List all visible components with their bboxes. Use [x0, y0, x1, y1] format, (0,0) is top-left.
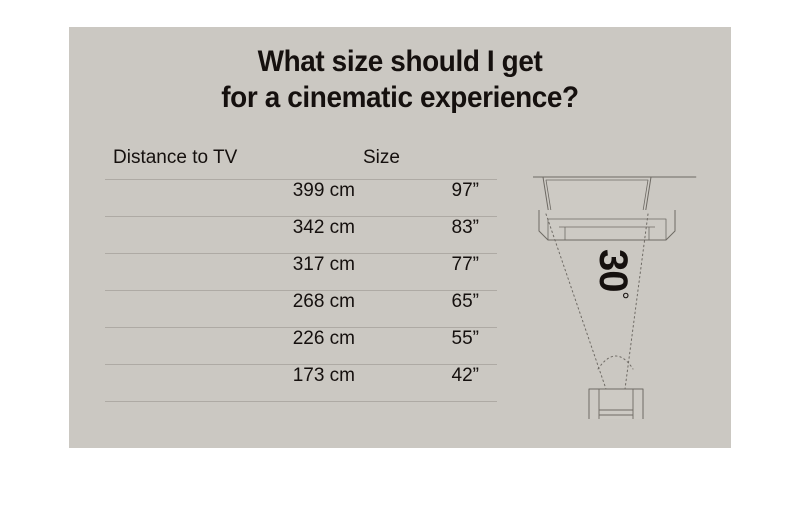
page-title: What size should I get for a cinematic e…: [92, 44, 708, 116]
cell-size: 83”: [355, 217, 497, 239]
column-header-size: Size: [363, 147, 497, 169]
cell-size: 55”: [355, 328, 497, 350]
infographic-card: What size should I get for a cinematic e…: [69, 27, 731, 448]
size-table: Distance to TV Size 399 cm 97” 342 cm 83…: [105, 147, 497, 402]
cell-distance: 399 cm: [105, 180, 355, 202]
table-row: 268 cm 65”: [105, 291, 497, 328]
cell-distance: 317 cm: [105, 254, 355, 276]
table-row: 342 cm 83”: [105, 217, 497, 254]
table-header-row: Distance to TV Size: [105, 147, 497, 180]
cell-size: 42”: [355, 365, 497, 387]
column-header-distance: Distance to TV: [105, 147, 363, 169]
cell-distance: 268 cm: [105, 291, 355, 313]
viewing-angle-value: 30: [591, 249, 635, 292]
cell-distance: 226 cm: [105, 328, 355, 350]
cell-size: 65”: [355, 291, 497, 313]
table-row: 173 cm 42”: [105, 365, 497, 402]
infographic-root: What size should I get for a cinematic e…: [0, 0, 800, 531]
page-title-line-2: for a cinematic experience?: [92, 80, 708, 116]
degree-symbol: °: [609, 292, 631, 299]
viewing-angle-diagram: 30°: [517, 139, 717, 419]
viewing-angle-label: 30°: [590, 249, 635, 299]
page-title-line-1: What size should I get: [92, 44, 708, 80]
cell-size: 97”: [355, 180, 497, 202]
table-row: 317 cm 77”: [105, 254, 497, 291]
television-top-view-icon: [533, 177, 696, 240]
sofa-top-view-icon: [589, 389, 643, 419]
cell-distance: 173 cm: [105, 365, 355, 387]
table-row: 226 cm 55”: [105, 328, 497, 365]
cell-size: 77”: [355, 254, 497, 276]
cell-distance: 342 cm: [105, 217, 355, 239]
table-row: 399 cm 97”: [105, 180, 497, 217]
